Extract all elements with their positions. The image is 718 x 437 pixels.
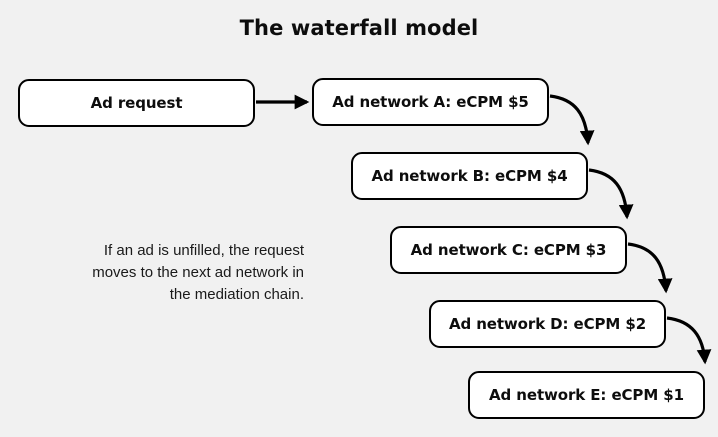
node-label: Ad network C: eCPM $3 (411, 241, 607, 259)
node-network-d[interactable]: Ad network D: eCPM $2 (429, 300, 666, 348)
note-line: moves to the next ad network in (22, 262, 304, 284)
arrow-a-to-b (550, 96, 588, 143)
node-label: Ad network A: eCPM $5 (332, 93, 529, 111)
page-title: The waterfall model (0, 16, 718, 40)
diagram-canvas: The waterfall model Ad request (0, 0, 718, 437)
node-network-a[interactable]: Ad network A: eCPM $5 (312, 78, 549, 126)
explanatory-note: If an ad is unfilled, the request moves … (22, 240, 304, 306)
note-line: If an ad is unfilled, the request (22, 240, 304, 262)
node-ad-request[interactable]: Ad request (18, 79, 255, 127)
node-network-b[interactable]: Ad network B: eCPM $4 (351, 152, 588, 200)
node-label: Ad network B: eCPM $4 (371, 167, 567, 185)
arrow-d-to-e (667, 318, 705, 362)
node-label: Ad request (91, 94, 183, 112)
arrow-b-to-c (589, 170, 627, 217)
node-label: Ad network E: eCPM $1 (489, 386, 684, 404)
node-network-c[interactable]: Ad network C: eCPM $3 (390, 226, 627, 274)
note-line: the mediation chain. (22, 284, 304, 306)
node-label: Ad network D: eCPM $2 (449, 315, 646, 333)
node-network-e[interactable]: Ad network E: eCPM $1 (468, 371, 705, 419)
arrow-c-to-d (628, 244, 666, 291)
